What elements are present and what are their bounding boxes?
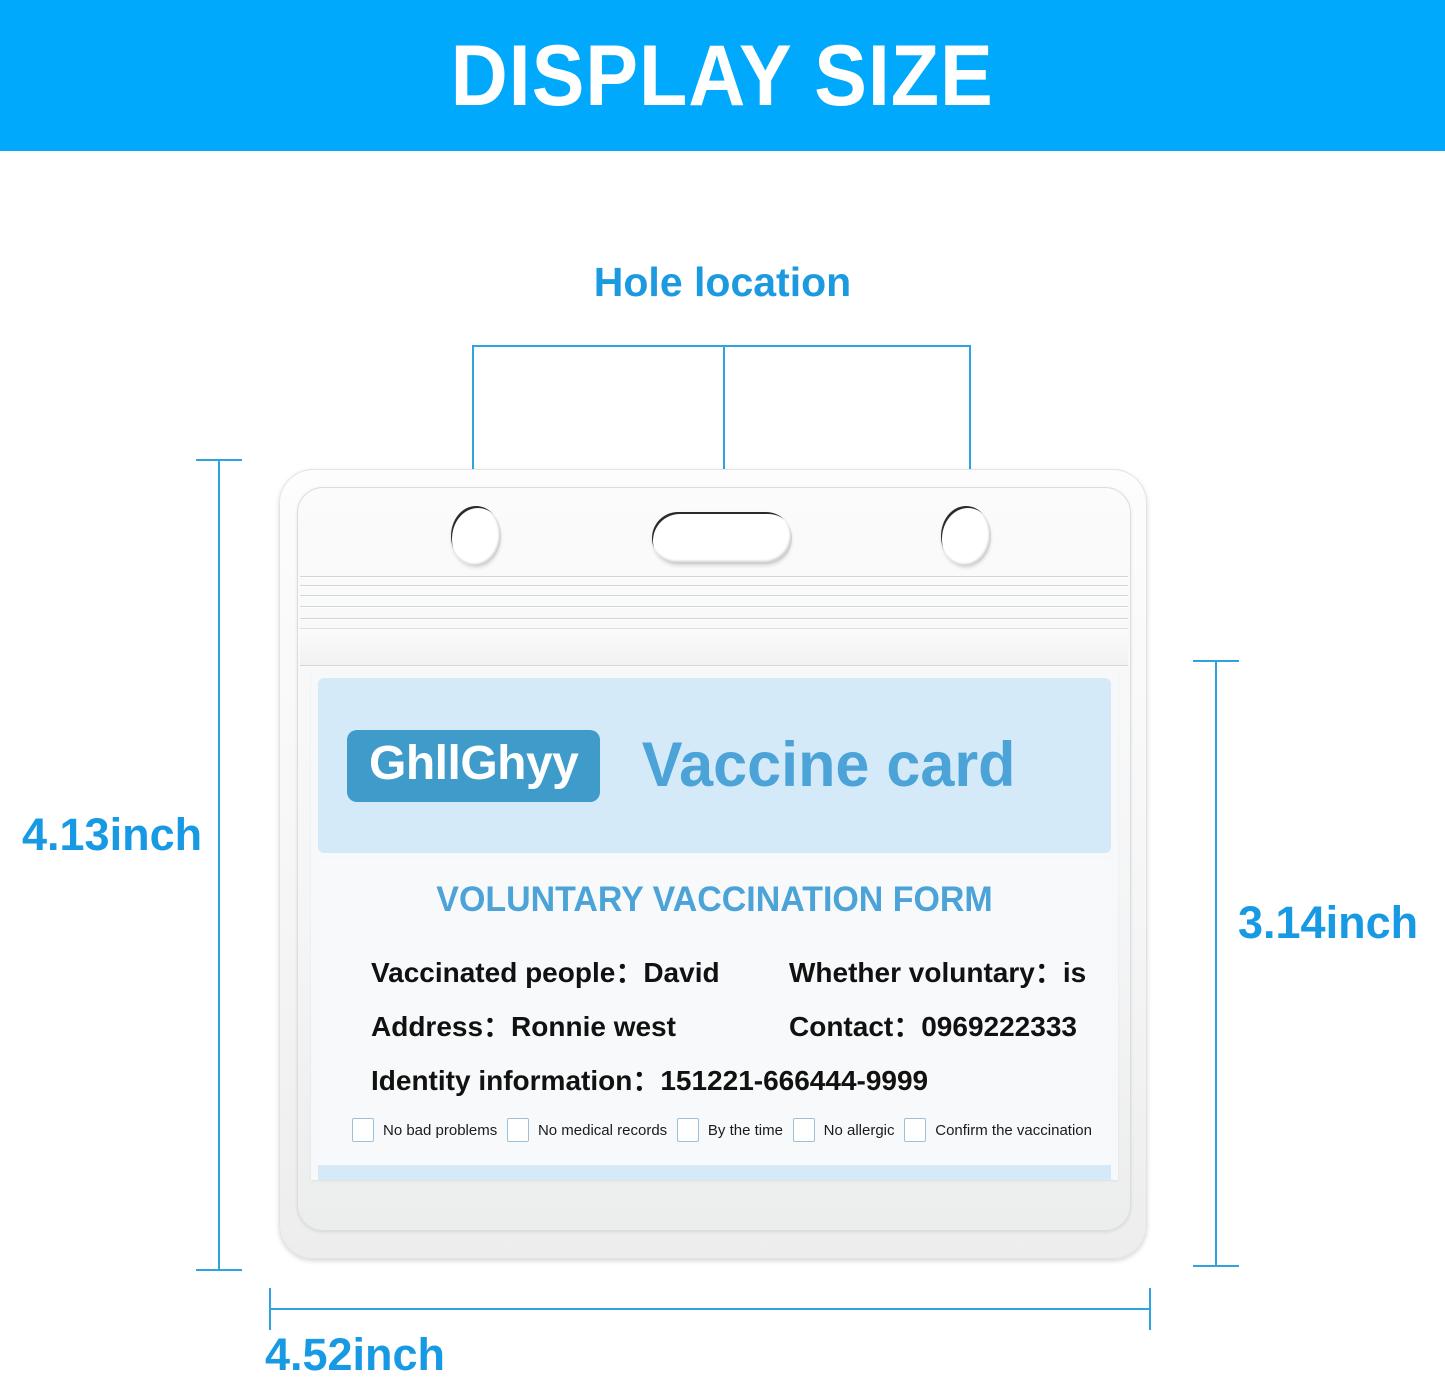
vaccine-card-header: GhllGhyy Vaccine card (318, 678, 1111, 853)
checkbox-icon[interactable] (507, 1118, 529, 1142)
checkbox-item-by-the-time[interactable]: By the time (677, 1118, 783, 1142)
dimension-label-width: 4.52inch (0, 1332, 1445, 1377)
field-whether-voluntary: Whether voluntary：is (789, 959, 1086, 987)
checkbox-item-no-allergic[interactable]: No allergic (793, 1118, 895, 1142)
card-kind-title: Vaccine card (642, 734, 1016, 797)
dimension-cap-top-right (1193, 660, 1239, 662)
checkbox-icon[interactable] (677, 1118, 699, 1142)
callout-horizontal-line (472, 345, 971, 347)
checkbox-row: No bad problems No medical records By th… (352, 1118, 1092, 1142)
vaccine-card-body: VOLUNTARY VACCINATION FORM Vaccinated pe… (318, 860, 1111, 1165)
left-round-hole-icon (451, 506, 501, 566)
field-label: Vaccinated people： (371, 957, 643, 988)
checkbox-label: By the time (708, 1122, 783, 1139)
vaccine-card-footer-band (318, 1165, 1111, 1180)
zip-lock-ribs (300, 576, 1128, 624)
checkbox-item-confirm-the-vaccination[interactable]: Confirm the vaccination (904, 1118, 1092, 1142)
checkbox-item-no-medical-records[interactable]: No medical records (507, 1118, 667, 1142)
page-title: DISPLAY SIZE (451, 33, 994, 119)
field-address: Address：Ronnie west (371, 1013, 676, 1041)
checkbox-label: No allergic (824, 1122, 895, 1139)
hole-location-label: Hole location (0, 262, 1445, 303)
dimension-cap-left-bottom (269, 1288, 271, 1330)
field-value: 151221-666444-9999 (660, 1065, 928, 1096)
brand-badge: GhllGhyy (347, 730, 600, 802)
dimension-line-height-inner (1215, 660, 1217, 1267)
field-label: Identity information： (371, 1065, 660, 1096)
dimension-cap-top-left (196, 459, 242, 461)
field-value: 0969222333 (921, 1011, 1077, 1042)
zip-lock-band (300, 628, 1128, 666)
dimension-cap-bottom-right (1193, 1265, 1239, 1267)
checkbox-icon[interactable] (904, 1118, 926, 1142)
checkbox-icon[interactable] (352, 1118, 374, 1142)
field-contact: Contact：0969222333 (789, 1013, 1077, 1041)
dimension-label-height-inner: 3.14inch (1238, 900, 1418, 945)
checkbox-item-no-bad-problems[interactable]: No bad problems (352, 1118, 497, 1142)
field-value: Ronnie west (511, 1011, 676, 1042)
checkbox-label: No medical records (538, 1122, 667, 1139)
vaccine-card: GhllGhyy Vaccine card VOLUNTARY VACCINAT… (311, 668, 1118, 1180)
field-label: Whether voluntary： (789, 957, 1063, 988)
field-value: David (643, 957, 719, 988)
field-label: Contact： (789, 1011, 921, 1042)
dimension-cap-right-bottom (1149, 1288, 1151, 1330)
dimension-cap-bottom-left (196, 1269, 242, 1271)
checkbox-icon[interactable] (793, 1118, 815, 1142)
center-slot-hole-icon (652, 512, 792, 564)
field-identity-information: Identity information：151221-666444-9999 (371, 1067, 928, 1095)
dimension-line-width (269, 1308, 1151, 1310)
field-label: Address： (371, 1011, 511, 1042)
checkbox-label: Confirm the vaccination (935, 1122, 1092, 1139)
dimension-label-height-outer: 4.13inch (22, 812, 202, 857)
dimension-label-width-text: 4.52inch (265, 1332, 445, 1377)
header-banner: DISPLAY SIZE (0, 0, 1445, 151)
field-vaccinated-people: Vaccinated people：David (371, 959, 720, 987)
dimension-line-height-outer (218, 459, 220, 1271)
field-value: is (1063, 957, 1086, 988)
form-title: VOLUNTARY VACCINATION FORM (330, 882, 1099, 917)
checkbox-label: No bad problems (383, 1122, 497, 1139)
right-round-hole-icon (941, 506, 991, 566)
